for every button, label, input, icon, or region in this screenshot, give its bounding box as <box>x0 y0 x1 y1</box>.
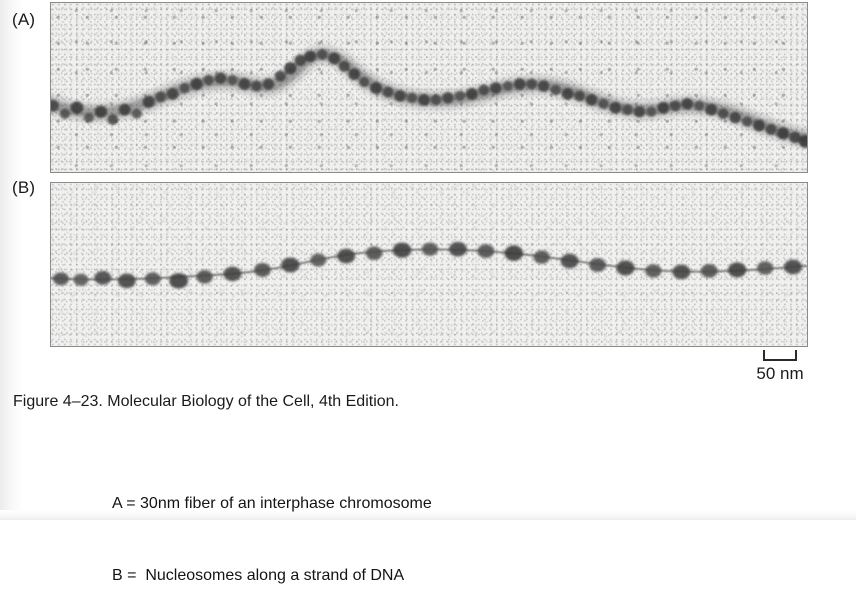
chromatin-30nm-fiber <box>51 3 807 172</box>
scale-bar-tick-right <box>795 350 797 361</box>
nucleosome-beads-on-string <box>51 183 807 346</box>
panel-b-label: (B) <box>12 178 35 198</box>
scale-bar-label: 50 nm <box>735 364 825 384</box>
legend-line-b: B = Nucleosomes along a strand of DNA <box>112 564 432 588</box>
scale-bar: 50 nm <box>735 350 825 384</box>
panel-b-micrograph <box>50 182 808 347</box>
panel-a-micrograph <box>50 2 808 173</box>
figure-legend: A = 30nm fiber of an interphase chromoso… <box>112 444 432 612</box>
scale-bar-rule <box>763 359 797 361</box>
page-left-edge-shading <box>0 0 24 520</box>
legend-line-a: A = 30nm fiber of an interphase chromoso… <box>112 492 432 516</box>
scale-bar-mark <box>763 350 797 361</box>
figure-caption: Figure 4–23. Molecular Biology of the Ce… <box>13 393 399 411</box>
panel-a-label: (A) <box>12 10 35 30</box>
scale-bar-tick-left <box>763 350 765 361</box>
